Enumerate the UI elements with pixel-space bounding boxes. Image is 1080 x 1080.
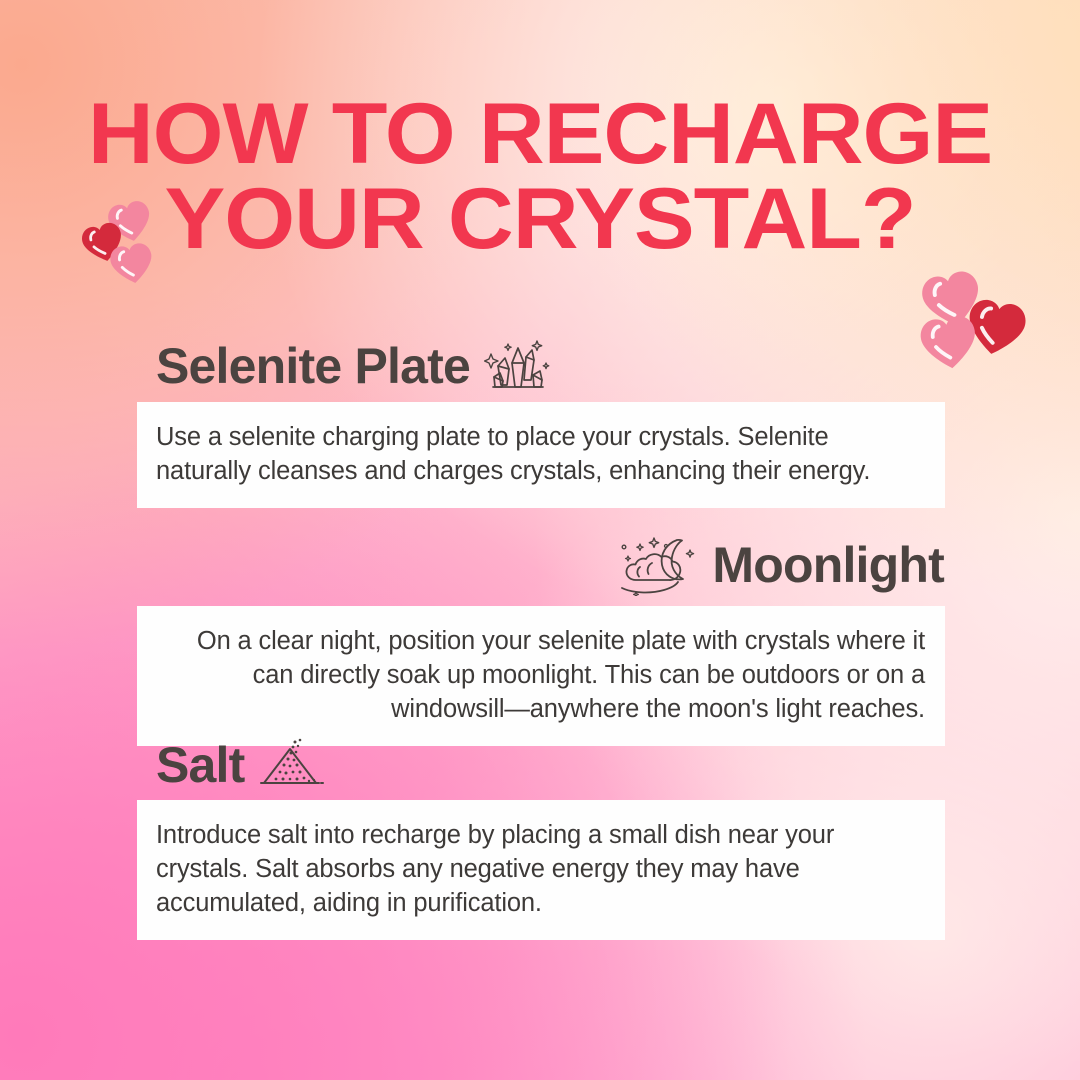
text-box-selenite-plate: Use a selenite charging plate to place y… (137, 402, 945, 508)
section-heading-moonlight: Moonlight (712, 540, 944, 590)
title-line-1: HOW TO RECHARGE (0, 92, 1080, 177)
infographic-poster: HOW TO RECHARGE YOUR CRYSTAL? (0, 0, 1080, 1080)
poster-title: HOW TO RECHARGE YOUR CRYSTAL? (0, 92, 1080, 262)
heart-pink-icon (916, 310, 982, 376)
crystal-cluster-icon (484, 338, 550, 394)
body-text-salt: Introduce salt into recharge by placing … (156, 818, 925, 920)
salt-pile-icon (259, 738, 325, 792)
body-text-moonlight: On a clear night, position your selenite… (156, 624, 925, 726)
section-heading-row: Moonlight (0, 534, 1080, 596)
section-heading-selenite-plate: Selenite Plate (156, 341, 470, 391)
text-box-salt: Introduce salt into recharge by placing … (137, 800, 945, 940)
body-text-selenite-plate: Use a selenite charging plate to place y… (156, 420, 925, 488)
crescent-moon-cloud-icon (614, 534, 698, 596)
section-heading-row: Salt (0, 738, 1080, 792)
section-salt: Salt (0, 738, 1080, 792)
heart-cluster-right (908, 270, 1044, 380)
text-box-moonlight: On a clear night, position your selenite… (137, 606, 945, 746)
title-line-2: YOUR CRYSTAL? (0, 177, 1080, 262)
section-moonlight: Moonlight (0, 534, 1080, 596)
section-heading-salt: Salt (156, 740, 245, 790)
